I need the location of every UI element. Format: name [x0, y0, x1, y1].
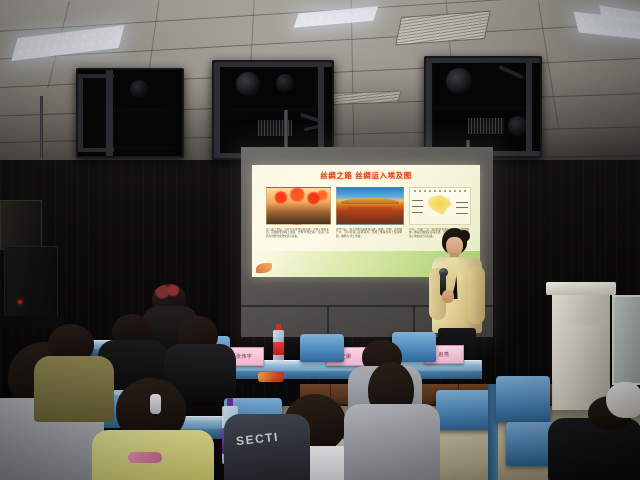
side-wall-panel — [612, 295, 640, 385]
water-bottle-desk-right — [273, 330, 284, 362]
seat-right-aisle[interactable] — [496, 376, 550, 422]
slide-title: 丝绸之路 丝绸运入埃及图 — [252, 170, 480, 181]
suspended-speaker-rig-left — [76, 68, 184, 158]
floor-speaker-left — [4, 246, 58, 320]
audience-member-olive-jacket — [34, 356, 114, 422]
slide-image-map — [409, 187, 471, 225]
presenter-lapel-pin — [457, 274, 461, 278]
audience-member-right-edge-white-sleeve — [606, 382, 640, 418]
audience-member-grey-jacket — [344, 404, 440, 480]
presenter-hand — [442, 290, 454, 303]
suspended-projector-rig-right — [424, 56, 542, 158]
presenter-arm-right — [468, 266, 485, 324]
lecture-hall-photo: 丝绸之路 丝绸运入埃及图 公元前二世纪，汉武帝派张骞出使西域，开辟了横贯东西、连… — [0, 0, 640, 480]
rig-support-pole-left — [40, 96, 43, 158]
name-card-right-text: 赵燕 — [439, 351, 450, 358]
seat-mid-3[interactable] — [436, 390, 492, 430]
hair-clip-icon — [150, 394, 161, 414]
pink-hair-clip-icon — [128, 452, 162, 463]
speaker-power-indicator-icon — [18, 300, 22, 304]
podium-cap — [546, 282, 616, 295]
seat-back-2[interactable] — [300, 334, 344, 362]
audience-member-right-edge — [548, 418, 640, 480]
suspended-projector-rig-center — [212, 60, 334, 160]
side-equipment-rack — [0, 200, 42, 250]
floor-speaker-base — [0, 316, 64, 328]
name-card-left-text: 张伟宇 — [236, 353, 252, 360]
slide-image-lanterns — [266, 187, 331, 225]
podium-taper — [556, 295, 606, 325]
snack-item-desk-back — [258, 372, 284, 382]
slide-image-gate — [336, 187, 404, 225]
